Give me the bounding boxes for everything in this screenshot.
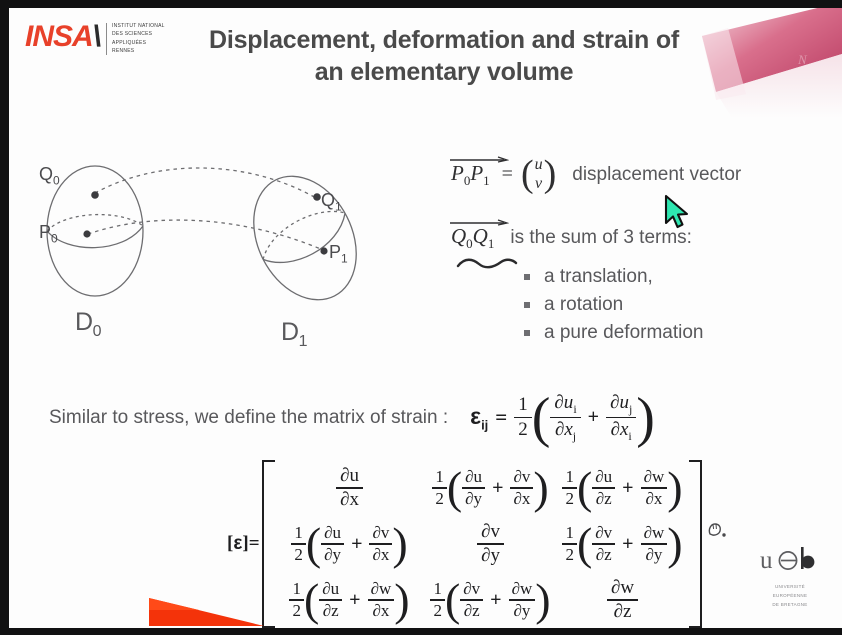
- domain-label-d0: D0: [75, 308, 101, 341]
- point-q0-dot: [91, 191, 99, 199]
- qq-vector-row: Q0Q1 is the sum of 3 terms:: [449, 224, 829, 252]
- insa-slash-icon: \: [93, 22, 101, 52]
- fraction-numerator: 1: [562, 468, 577, 486]
- vector-component-u: u: [535, 156, 543, 175]
- fraction: ∂u∂z: [319, 580, 342, 620]
- fraction: ∂u∂x: [336, 466, 363, 510]
- bullet-label: a translation,: [544, 266, 653, 288]
- ueb-subtitle-line2: EUROPÉENNE: [760, 593, 820, 599]
- fraction: 12: [432, 468, 447, 508]
- one-half-fraction: 1 2: [514, 395, 532, 439]
- fraction-denominator: ∂z: [593, 546, 615, 564]
- fraction: ∂w∂x: [368, 580, 395, 620]
- point-q1-dot: [313, 193, 321, 201]
- ueb-subtitle-line1: UNIVERSITÉ: [760, 584, 820, 590]
- fraction-denominator: 2: [432, 490, 447, 508]
- hand-mark-annotation-icon: [706, 520, 728, 540]
- list-item: a translation,: [524, 266, 704, 288]
- fraction: ∂v∂x: [510, 468, 533, 508]
- insa-wordmark: INSA: [25, 22, 93, 52]
- strain-definition-row: Similar to stress, we define the matrix …: [49, 393, 655, 442]
- strain-matrix: [ε]= ∂u∂x12(∂u∂y+∂v∂x)12(∂u∂z+∂w∂x)12(∂u…: [227, 460, 702, 628]
- overbar-arrow-icon: [449, 219, 509, 227]
- fraction-numerator: ∂w: [509, 580, 536, 598]
- left-volume-front-equator: [47, 226, 143, 248]
- ueb-subtitle-line3: DE BRETAGNE: [760, 602, 820, 608]
- ueb-wordmark: u: [760, 546, 820, 581]
- matrix-cell-2-3: 12(∂v∂z+∂w∂y): [557, 516, 689, 572]
- fraction-numerator: ∂u: [321, 524, 344, 542]
- fraction-denominator: ∂x: [369, 546, 392, 564]
- fraction-numerator: ∂w: [641, 524, 668, 542]
- paren-open-icon: (: [521, 157, 534, 192]
- list-item: a pure deformation: [524, 322, 704, 344]
- fraction-denominator: ∂x: [369, 602, 392, 620]
- point-label-q1: Q1: [321, 190, 342, 214]
- matrix-cell-3-2: 12(∂v∂z+∂w∂y): [425, 572, 557, 628]
- bullet-label: a rotation: [544, 294, 623, 316]
- matrix-bracket-left: [262, 460, 275, 628]
- page-title-line1: Displacement, deformation and strain of: [129, 24, 759, 56]
- fraction-numerator: ∂u: [319, 580, 342, 598]
- paren-open-icon: (: [447, 471, 462, 504]
- fraction-denominator: ∂y: [462, 490, 485, 508]
- half-sum-expression: 12(∂u∂z+∂w∂x): [562, 468, 682, 508]
- fraction: 12: [291, 524, 306, 564]
- matrix-grid: ∂u∂x12(∂u∂y+∂v∂x)12(∂u∂z+∂w∂x)12(∂u∂y+∂v…: [275, 460, 689, 628]
- fraction: 12: [562, 524, 577, 564]
- partial-u-j-over-x-i: ∂uj ∂xi: [606, 393, 636, 442]
- fraction-numerator: ∂u: [462, 468, 485, 486]
- paren-close-icon: ): [394, 583, 409, 616]
- paren-open-icon: (: [304, 583, 319, 616]
- paren-open-icon: (: [445, 583, 460, 616]
- matrix-cell-3-1: 12(∂u∂z+∂w∂x): [275, 572, 425, 628]
- paren-open-icon: (: [532, 398, 551, 438]
- fraction-numerator: ∂w: [607, 578, 638, 598]
- fraction-denominator: ∂x: [336, 490, 363, 510]
- matrix-bracket-right: [689, 460, 702, 628]
- fraction-denominator: ∂x: [510, 490, 533, 508]
- plus-sign: +: [349, 589, 360, 612]
- explanation-column: P0P1 = ( u v ) displacement vector: [449, 156, 829, 252]
- paren-close-icon: ): [667, 471, 682, 504]
- paren-open-icon: (: [577, 527, 592, 560]
- epsilon-symbol: εij: [470, 403, 488, 433]
- page-title-line2: an elementary volume: [129, 56, 759, 88]
- point-label-p0: P0: [39, 222, 58, 246]
- matrix-lhs-label: [ε]=: [227, 533, 260, 555]
- list-item: a rotation: [524, 294, 704, 316]
- half-sum-expression: 12(∂v∂z+∂w∂y): [430, 580, 550, 620]
- page-title: Displacement, deformation and strain of …: [129, 24, 759, 88]
- fraction-numerator: ∂v: [369, 524, 392, 542]
- fraction-numerator: ∂v: [510, 468, 533, 486]
- left-volume-outline: [47, 166, 143, 296]
- plus-sign: +: [622, 477, 633, 500]
- fraction-denominator: ∂z: [461, 602, 483, 620]
- deformation-figure: Q0 P0 Q1 P1 D0 D1: [33, 138, 433, 368]
- fraction-denominator: 2: [562, 490, 577, 508]
- matrix-cell-3-3: ∂w∂z: [557, 572, 689, 628]
- fraction: 12: [289, 580, 304, 620]
- fraction-numerator: ∂v: [592, 524, 615, 542]
- plus-sign: +: [351, 533, 362, 556]
- fraction: 12: [430, 580, 445, 620]
- plus-sign: +: [588, 406, 599, 429]
- fraction-denominator: 2: [562, 546, 577, 564]
- displacement-vector-caption: displacement vector: [572, 164, 741, 186]
- fraction: ∂u∂y: [462, 468, 485, 508]
- fraction: ∂v∂x: [369, 524, 392, 564]
- svg-text:u: u: [760, 547, 773, 574]
- strain-definition-sentence: Similar to stress, we define the matrix …: [49, 407, 448, 429]
- paren-close-icon: ): [392, 527, 407, 560]
- fraction-denominator: ∂z: [320, 602, 342, 620]
- p-correspondence-arc: [88, 220, 323, 250]
- vector-p0p1: P0P1: [449, 161, 492, 189]
- plus-sign: +: [492, 477, 503, 500]
- fraction-numerator: ∂u: [592, 468, 615, 486]
- paren-close-icon: ): [533, 471, 548, 504]
- fraction-denominator: ∂y: [321, 546, 344, 564]
- fraction: 12: [562, 468, 577, 508]
- plus-sign: +: [490, 589, 501, 612]
- fraction-numerator: 1: [562, 524, 577, 542]
- paren-close-icon: ): [535, 583, 550, 616]
- paren-close-icon: ): [636, 398, 655, 438]
- fraction-numerator: 1: [430, 580, 445, 598]
- fraction-numerator: ∂v: [477, 522, 504, 542]
- fraction-numerator: ∂w: [368, 580, 395, 598]
- point-p1-dot: [320, 247, 327, 254]
- half-sum-expression: 12(∂u∂y+∂v∂x): [432, 468, 548, 508]
- fraction-numerator: 1: [289, 580, 304, 598]
- squiggle-annotation-icon: [455, 256, 519, 274]
- fraction-denominator: 2: [430, 602, 445, 620]
- point-label-p1: P1: [329, 242, 348, 266]
- bullet-square-icon: [524, 274, 530, 280]
- terms-bullet-list: a translation, a rotation a pure deforma…: [524, 266, 704, 350]
- fraction: ∂v∂y: [477, 522, 504, 566]
- logo-divider: [106, 23, 107, 55]
- fraction-denominator: ∂y: [642, 546, 665, 564]
- fraction-denominator: 2: [291, 546, 306, 564]
- fraction-numerator: ∂u: [336, 466, 363, 486]
- fraction-denominator: ∂x: [642, 490, 665, 508]
- hand-mark-annotation: [706, 520, 728, 545]
- matrix-cell-1-1: ∂u∂x: [275, 460, 425, 516]
- squiggle-annotation: [455, 256, 519, 279]
- slide-canvas: N INSA \ INSTITUT NATIONAL DES SCIENCES …: [9, 8, 842, 628]
- paren-open-icon: (: [577, 471, 592, 504]
- slide-header: INSA \ INSTITUT NATIONAL DES SCIENCES AP…: [9, 8, 842, 104]
- paren-close-icon: ): [667, 527, 682, 560]
- fraction: ∂w∂y: [509, 580, 536, 620]
- paren-open-icon: (: [306, 527, 321, 560]
- point-label-q0: Q0: [39, 164, 60, 188]
- fraction-numerator: 1: [291, 524, 306, 542]
- fraction: ∂v∂z: [460, 580, 483, 620]
- fraction-denominator: ∂z: [593, 490, 615, 508]
- displacement-vector-row: P0P1 = ( u v ) displacement vector: [449, 156, 829, 194]
- ueb-wordmark-icon: u: [760, 546, 820, 574]
- matrix-cell-2-1: 12(∂u∂y+∂v∂x): [275, 516, 425, 572]
- fraction-numerator: ∂v: [460, 580, 483, 598]
- fraction-denominator: ∂z: [610, 602, 636, 622]
- ueb-logo: u UNIVERSITÉ EUROPÉENNE DE BRETAGNE: [760, 546, 820, 608]
- partial-u-i-over-x-j: ∂ui ∂xj: [550, 393, 580, 442]
- column-vector-uv: ( u v ): [521, 156, 556, 194]
- equals-sign: =: [502, 163, 513, 186]
- bullet-square-icon: [524, 302, 530, 308]
- plus-sign: +: [622, 533, 633, 556]
- fraction: ∂w∂z: [607, 578, 638, 622]
- half-sum-expression: 12(∂u∂z+∂w∂x): [289, 580, 409, 620]
- domain-label-d1: D1: [281, 318, 307, 351]
- half-sum-expression: 12(∂v∂z+∂w∂y): [562, 524, 682, 564]
- vector-q0q1: Q0Q1: [449, 224, 496, 252]
- fraction: ∂u∂y: [321, 524, 344, 564]
- matrix-cell-1-3: 12(∂u∂z+∂w∂x): [557, 460, 689, 516]
- paren-close-icon: ): [544, 157, 557, 192]
- fraction: ∂w∂y: [641, 524, 668, 564]
- vector-component-v: v: [535, 175, 542, 194]
- matrix-cell-1-2: 12(∂u∂y+∂v∂x): [425, 460, 557, 516]
- fraction-numerator: 1: [432, 468, 447, 486]
- bullet-square-icon: [524, 330, 530, 336]
- right-volume-outline: [234, 159, 377, 318]
- point-p0-dot: [83, 230, 90, 237]
- qq-caption: is the sum of 3 terms:: [510, 227, 692, 249]
- overbar-arrow-icon: [449, 156, 509, 164]
- projector-frame: N INSA \ INSTITUT NATIONAL DES SCIENCES …: [0, 0, 842, 635]
- bullet-label: a pure deformation: [544, 322, 704, 344]
- fraction-numerator: ∂w: [641, 468, 668, 486]
- fraction: ∂v∂z: [592, 524, 615, 564]
- fraction: ∂w∂x: [641, 468, 668, 508]
- fraction-denominator: 2: [289, 602, 304, 620]
- fraction-denominator: ∂y: [477, 546, 504, 566]
- matrix-cell-2-2: ∂v∂y: [425, 516, 557, 572]
- strain-definition-equation: εij = 1 2 ( ∂ui ∂xj + ∂uj ∂xi: [470, 393, 655, 442]
- left-volume-back-equator: [47, 215, 143, 231]
- half-sum-expression: 12(∂u∂y+∂v∂x): [291, 524, 407, 564]
- fraction: ∂u∂z: [592, 468, 615, 508]
- equals-sign: =: [495, 405, 507, 430]
- fraction-denominator: ∂y: [510, 602, 533, 620]
